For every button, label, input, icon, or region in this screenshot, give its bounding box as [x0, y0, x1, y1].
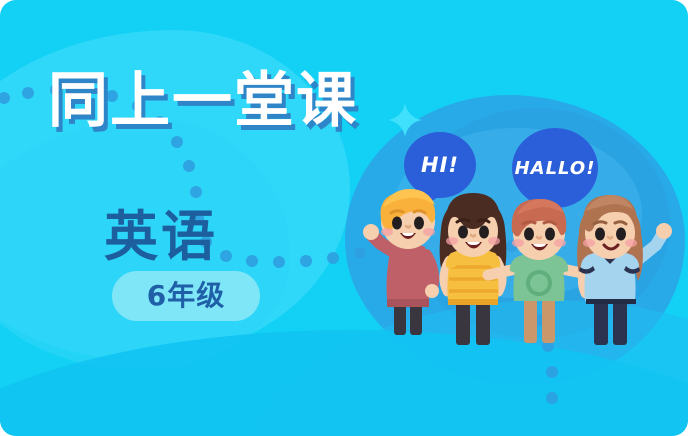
- grade-badge[interactable]: 6年级: [112, 271, 260, 321]
- grade-badge-label: 6年级: [147, 282, 225, 310]
- path-dot: [0, 92, 10, 104]
- background-band-bottom: [0, 330, 688, 436]
- speech-bubble-hallo-text: HALLO!: [515, 158, 596, 179]
- path-dot: [327, 252, 339, 264]
- path-dot: [300, 255, 312, 267]
- path-dot: [546, 392, 558, 404]
- path-dot: [183, 160, 195, 172]
- page-title: 同上一堂课: [48, 52, 358, 139]
- subject-title: 英语: [104, 192, 218, 271]
- path-dot: [246, 255, 258, 267]
- path-dot: [546, 366, 558, 378]
- sparkle-icon: [386, 101, 424, 139]
- kid-blond-waving: [363, 189, 439, 335]
- kid-longhair-waving: [577, 195, 672, 345]
- path-dot: [220, 250, 232, 262]
- course-banner-card: 同上一堂课 英语 6年级 HI! HALLO!: [0, 0, 688, 436]
- path-dot: [273, 256, 285, 268]
- path-dot: [22, 87, 34, 99]
- children-illustration: [358, 185, 678, 345]
- speech-bubble-hi-text: HI!: [421, 153, 459, 177]
